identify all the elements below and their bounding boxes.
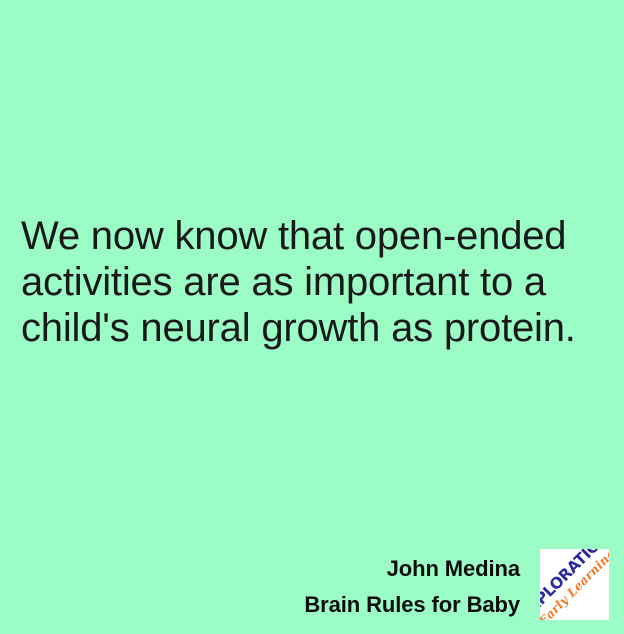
quote-line-2: activities are as important to a	[21, 259, 583, 305]
quote-source-title: Brain Rules for Baby	[200, 587, 520, 623]
quote-text: We now know that open-ended activities a…	[21, 213, 583, 351]
quote-line-3: child's neural growth as protein.	[21, 305, 583, 351]
attribution: John Medina Brain Rules for Baby	[200, 551, 520, 623]
explorations-logo: EXPLORATIONS Early Learning	[540, 549, 609, 620]
quote-line-1: We now know that open-ended	[21, 213, 583, 259]
quote-author: John Medina	[200, 551, 520, 587]
logo-rotor: EXPLORATIONS Early Learning	[540, 549, 609, 620]
quote-card: We now know that open-ended activities a…	[0, 0, 624, 634]
